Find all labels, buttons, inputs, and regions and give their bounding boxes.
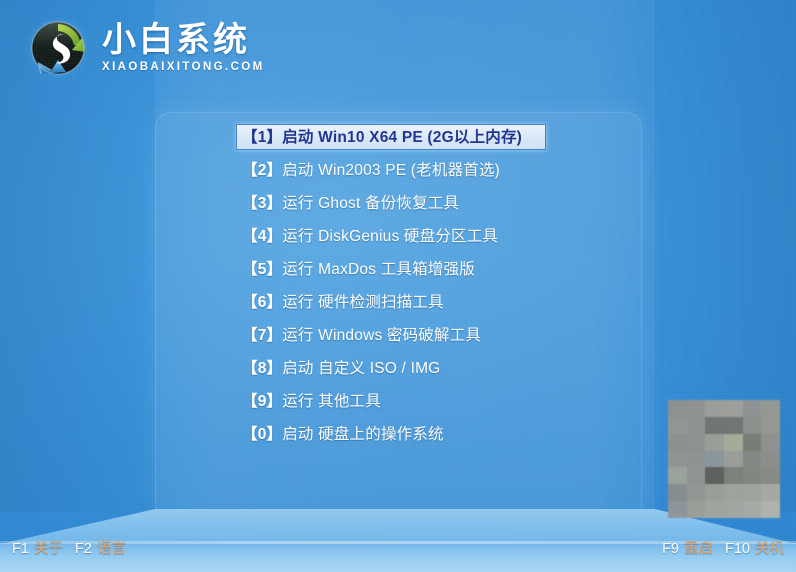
mosaic-cell-6 <box>668 417 687 434</box>
mosaic-cell-33 <box>724 484 743 501</box>
mosaic-cell-40 <box>743 501 762 518</box>
status-hint-f9[interactable]: F9重启 <box>662 537 713 558</box>
mosaic-cell-5 <box>761 400 780 417</box>
mosaic-cell-29 <box>761 467 780 484</box>
menu-item-6[interactable]: 【6】运行 硬件检测扫描工具 <box>236 289 546 315</box>
menu-item-4[interactable]: 【4】运行 DiskGenius 硬盘分区工具 <box>236 223 546 249</box>
mosaic-cell-36 <box>668 501 687 518</box>
censored-pixelated-block <box>668 400 780 518</box>
status-hint-key: F1 <box>12 541 29 557</box>
menu-item-key: 【4】 <box>242 228 282 245</box>
menu-item-label: 运行 Windows 密码破解工具 <box>282 327 481 344</box>
status-hints-left: F1关于F2语言 <box>12 537 126 558</box>
brand-wordmark: 小白系统 XIAOBAIXITONG.COM <box>102 23 265 74</box>
menu-item-label: 启动 自定义 ISO / IMG <box>282 360 440 377</box>
mosaic-cell-16 <box>743 434 762 451</box>
menu-item-key: 【3】 <box>242 195 282 212</box>
status-hint-key: F2 <box>75 541 92 557</box>
mosaic-cell-11 <box>761 417 780 434</box>
status-hints-right: F9重启F10关机 <box>662 537 784 558</box>
status-hint-label: 语言 <box>97 537 126 558</box>
mosaic-cell-35 <box>761 484 780 501</box>
menu-item-key: 【5】 <box>242 261 282 278</box>
status-hint-key: F10 <box>725 541 750 557</box>
mosaic-cell-14 <box>705 434 724 451</box>
mosaic-cell-15 <box>724 434 743 451</box>
brand-logo: 小白系统 XIAOBAIXITONG.COM <box>22 12 265 84</box>
menu-item-10[interactable]: 【0】启动 硬盘上的操作系统 <box>236 421 546 447</box>
status-hint-label: 关于 <box>34 537 63 558</box>
mosaic-cell-38 <box>705 501 724 518</box>
menu-item-label: 运行 其他工具 <box>282 393 381 410</box>
mosaic-cell-4 <box>743 400 762 417</box>
mosaic-cell-9 <box>724 417 743 434</box>
menu-item-label: 启动 硬盘上的操作系统 <box>282 426 444 443</box>
status-hint-label: 重启 <box>684 537 713 558</box>
menu-item-label: 运行 DiskGenius 硬盘分区工具 <box>282 228 498 245</box>
mosaic-cell-19 <box>687 451 706 468</box>
mosaic-cell-20 <box>705 451 724 468</box>
menu-item-key: 【8】 <box>242 360 282 377</box>
mosaic-cell-3 <box>724 400 743 417</box>
mosaic-cell-13 <box>687 434 706 451</box>
boot-menu-screen: 小白系统 XIAOBAIXITONG.COM 【1】启动 Win10 X64 P… <box>0 0 796 572</box>
mosaic-cell-17 <box>761 434 780 451</box>
mosaic-cell-0 <box>668 400 687 417</box>
status-hint-key: F9 <box>662 541 679 557</box>
mosaic-cell-10 <box>743 417 762 434</box>
mosaic-cell-26 <box>705 467 724 484</box>
xiaobai-logo-icon <box>22 12 94 84</box>
menu-item-label: 运行 Ghost 备份恢复工具 <box>282 195 459 212</box>
mosaic-cell-24 <box>668 467 687 484</box>
mosaic-cell-23 <box>761 451 780 468</box>
menu-item-label: 运行 硬件检测扫描工具 <box>282 294 444 311</box>
mosaic-cell-27 <box>724 467 743 484</box>
status-hint-f2[interactable]: F2语言 <box>75 537 126 558</box>
menu-item-2[interactable]: 【2】启动 Win2003 PE (老机器首选) <box>236 157 546 183</box>
mosaic-cell-37 <box>687 501 706 518</box>
menu-item-3[interactable]: 【3】运行 Ghost 备份恢复工具 <box>236 190 546 216</box>
mosaic-cell-28 <box>743 467 762 484</box>
mosaic-cell-41 <box>761 501 780 518</box>
status-hint-label: 关机 <box>755 537 784 558</box>
menu-item-label: 启动 Win10 X64 PE (2G以上内存) <box>282 129 522 146</box>
menu-item-9[interactable]: 【9】运行 其他工具 <box>236 388 546 414</box>
menu-item-5[interactable]: 【5】运行 MaxDos 工具箱增强版 <box>236 256 546 282</box>
menu-item-key: 【6】 <box>242 294 282 311</box>
mosaic-cell-39 <box>724 501 743 518</box>
mosaic-cell-12 <box>668 434 687 451</box>
menu-item-8[interactable]: 【8】启动 自定义 ISO / IMG <box>236 355 546 381</box>
mosaic-cell-22 <box>743 451 762 468</box>
brand-name-en: XIAOBAIXITONG.COM <box>102 61 265 73</box>
menu-item-key: 【9】 <box>242 393 282 410</box>
mosaic-cell-8 <box>705 417 724 434</box>
mosaic-cell-25 <box>687 467 706 484</box>
mosaic-cell-2 <box>705 400 724 417</box>
mosaic-cell-30 <box>668 484 687 501</box>
menu-item-key: 【2】 <box>242 162 282 179</box>
menu-item-key: 【7】 <box>242 327 282 344</box>
status-hint-f1[interactable]: F1关于 <box>12 537 63 558</box>
mosaic-cell-1 <box>687 400 706 417</box>
mosaic-cell-21 <box>724 451 743 468</box>
menu-item-label: 启动 Win2003 PE (老机器首选) <box>282 162 500 179</box>
mosaic-cell-34 <box>743 484 762 501</box>
menu-item-key: 【1】 <box>242 129 282 146</box>
mosaic-cell-7 <box>687 417 706 434</box>
boot-menu-list[interactable]: 【1】启动 Win10 X64 PE (2G以上内存)【2】启动 Win2003… <box>236 124 546 454</box>
mosaic-cell-32 <box>705 484 724 501</box>
menu-item-7[interactable]: 【7】运行 Windows 密码破解工具 <box>236 322 546 348</box>
mosaic-cell-31 <box>687 484 706 501</box>
mosaic-cell-18 <box>668 451 687 468</box>
menu-item-label: 运行 MaxDos 工具箱增强版 <box>282 261 475 278</box>
menu-item-1[interactable]: 【1】启动 Win10 X64 PE (2G以上内存) <box>236 124 546 150</box>
brand-name-cn: 小白系统 <box>102 23 265 59</box>
status-bar: F1关于F2语言 F9重启F10关机 <box>0 536 796 558</box>
menu-item-key: 【0】 <box>242 426 282 443</box>
status-hint-f10[interactable]: F10关机 <box>725 537 784 558</box>
